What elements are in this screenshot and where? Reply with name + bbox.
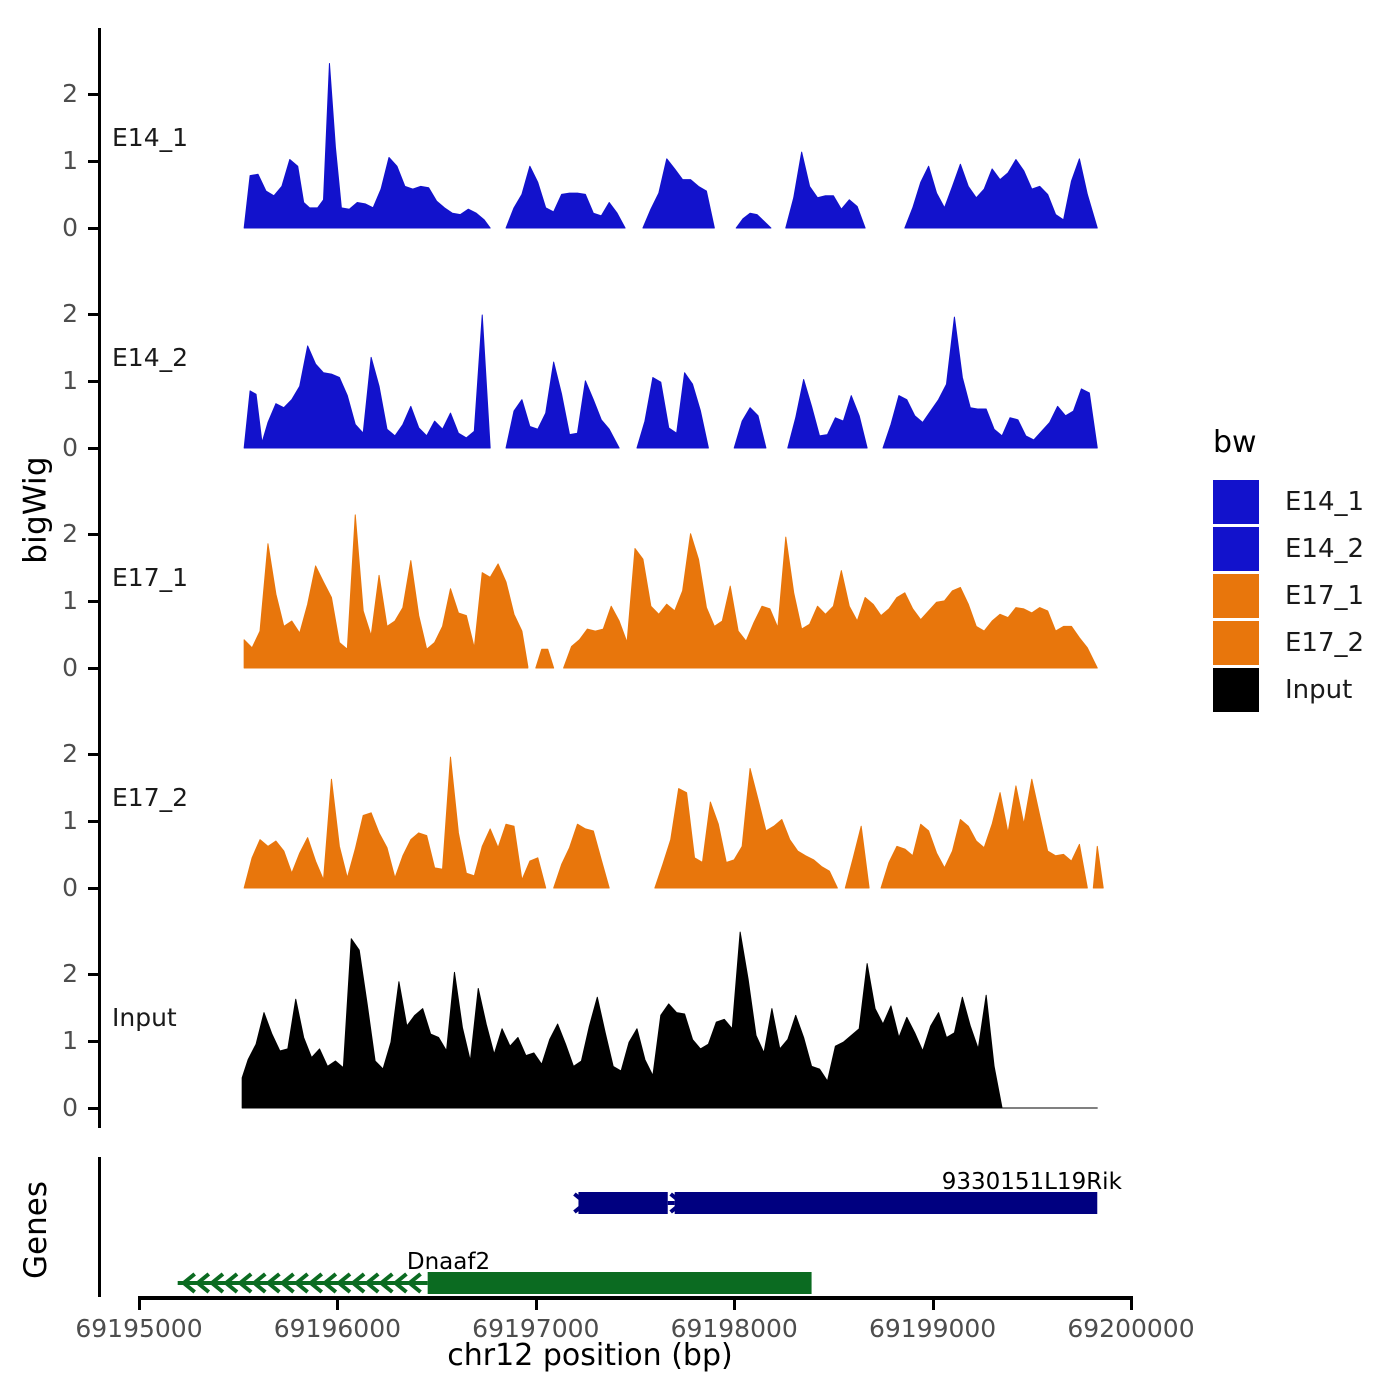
y-axis-tick-label: 2 — [16, 741, 78, 766]
y-axis-tick-label: 2 — [16, 301, 78, 326]
coverage-segment — [883, 317, 1097, 448]
coverage-segment — [554, 824, 610, 888]
x-axis-line — [139, 1296, 1131, 1300]
coverage-segment — [734, 408, 766, 448]
track-panel-e14_2: 012E14_2 — [0, 248, 1180, 468]
legend-swatch — [1213, 574, 1259, 618]
y-axis-tick-label: 0 — [16, 435, 78, 460]
exon-block — [428, 1272, 812, 1294]
x-axis: 6919500069196000691970006919800069199000… — [0, 1296, 1180, 1342]
coverage-segment — [643, 159, 714, 228]
genes-track-panel: 9330151L19RikDnaaf2 — [0, 1155, 1180, 1305]
coverage-segment — [655, 768, 838, 888]
legend-label: E17_1 — [1285, 581, 1364, 611]
legend-swatch — [1213, 621, 1259, 665]
coverage-area-e14_1 — [98, 28, 1131, 248]
y-axis-tick-label: 2 — [16, 961, 78, 986]
y-axis-tick-label: 1 — [16, 588, 78, 613]
legend-label: E14_1 — [1285, 487, 1364, 517]
coverage-area-input — [98, 908, 1131, 1128]
x-axis-tick — [535, 1296, 538, 1310]
coverage-segment — [788, 380, 867, 448]
coverage-segment — [244, 757, 546, 888]
coverage-segment — [506, 362, 619, 448]
legend-item-e17_2[interactable]: E17_2 — [1205, 619, 1395, 666]
gene-row[interactable]: 9330151L19Rik — [98, 1173, 1131, 1213]
y-axis-tick-label: 0 — [16, 1095, 78, 1120]
coverage-segment — [536, 649, 554, 668]
x-axis-tick — [1130, 1296, 1133, 1310]
x-axis-tick — [138, 1296, 141, 1310]
gene-label: Dnaaf2 — [407, 1249, 490, 1275]
coverage-segment — [786, 152, 865, 228]
y-axis-tick-label: 2 — [16, 521, 78, 546]
legend: bw E14_1E14_2E17_1E17_2Input — [1205, 425, 1395, 713]
exon-block — [675, 1192, 1098, 1214]
track-panel-e14_1: 012E14_1 — [0, 28, 1180, 248]
legend-swatch — [1213, 527, 1259, 571]
y-axis-tick-label: 1 — [16, 148, 78, 173]
y-axis-tick-label: 1 — [16, 368, 78, 393]
coverage-segment — [564, 534, 1098, 668]
coverage-segment — [881, 779, 1087, 888]
coverage-segment — [506, 166, 625, 228]
exon-block — [578, 1192, 667, 1214]
coverage-segment — [242, 932, 1097, 1108]
coverage-segment — [905, 159, 1097, 228]
x-axis-title: chr12 position (bp) — [0, 1338, 1180, 1373]
track-panel-input: 012Input — [0, 908, 1180, 1128]
coverage-segment — [1093, 846, 1103, 888]
track-panel-e17_2: 012E17_2 — [0, 688, 1180, 908]
y-axis-tick-label: 0 — [16, 655, 78, 680]
x-axis-tick — [932, 1296, 935, 1310]
x-axis-tick — [336, 1296, 339, 1310]
legend-item-e14_2[interactable]: E14_2 — [1205, 525, 1395, 572]
legend-label: E14_2 — [1285, 534, 1364, 564]
coverage-segment — [845, 826, 869, 888]
coverage-segment — [244, 64, 490, 229]
y-axis-tick-label: 0 — [16, 215, 78, 240]
coverage-area-e17_1 — [98, 468, 1131, 688]
coverage-segment — [244, 515, 528, 668]
gene-row[interactable]: Dnaaf2 — [98, 1253, 1131, 1293]
legend-item-e17_1[interactable]: E17_1 — [1205, 572, 1395, 619]
track-panel-e17_1: 012E17_1 — [0, 468, 1180, 688]
legend-item-e14_1[interactable]: E14_1 — [1205, 478, 1395, 525]
legend-item-input[interactable]: Input — [1205, 666, 1395, 713]
coverage-area-e14_2 — [98, 248, 1131, 468]
legend-label: E17_2 — [1285, 628, 1364, 658]
y-axis-tick-label: 1 — [16, 1028, 78, 1053]
x-axis-tick — [733, 1296, 736, 1310]
coverage-segment — [244, 315, 490, 448]
coverage-segment — [736, 213, 771, 228]
legend-swatch — [1213, 480, 1259, 524]
coverage-segment — [637, 373, 708, 448]
y-axis-tick-label: 2 — [16, 81, 78, 106]
y-axis-tick-label: 0 — [16, 875, 78, 900]
coverage-area-e17_2 — [98, 688, 1131, 908]
y-axis-tick-label: 1 — [16, 808, 78, 833]
legend-label: Input — [1285, 675, 1352, 705]
gene-label: 9330151L19Rik — [942, 1169, 1122, 1195]
legend-swatch — [1213, 668, 1259, 712]
legend-title: bw — [1213, 425, 1395, 460]
gene-glyph-dnaaf2 — [98, 1253, 1131, 1301]
